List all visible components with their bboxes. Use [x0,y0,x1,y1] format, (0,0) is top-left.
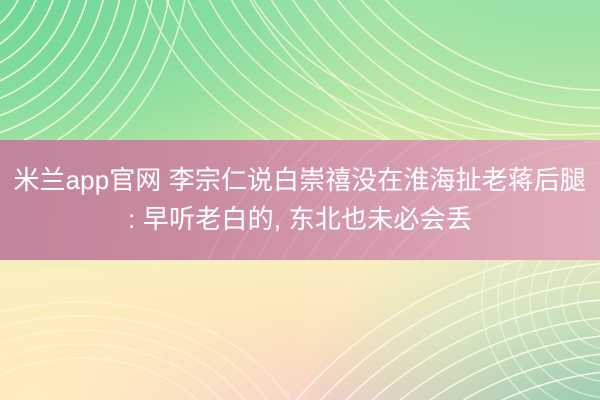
banner-image-canvas: 米兰app官网 李宗仁说白崇禧没在淮海扯老蒋后腿 : 早听老白的, 东北也未必会… [0,0,600,400]
title-banner: 米兰app官网 李宗仁说白崇禧没在淮海扯老蒋后腿 : 早听老白的, 东北也未必会… [0,140,600,260]
banner-title-line-1: 米兰app官网 李宗仁说白崇禧没在淮海扯老蒋后腿 [14,161,587,200]
banner-title-line-2: : 早听老白的, 东北也未必会丢 [128,200,472,239]
banner-title-text: 米兰app官网 李宗仁说白崇禧没在淮海扯老蒋后腿 : 早听老白的, 东北也未必会… [0,140,600,260]
